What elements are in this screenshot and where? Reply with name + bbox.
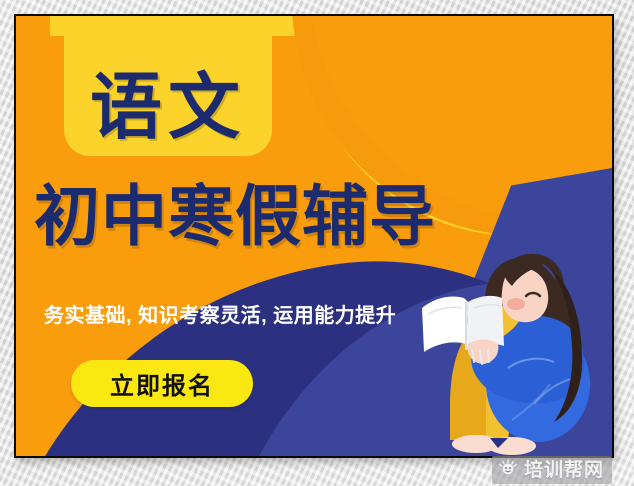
poster-backdrop: 语文 初中寒假辅导 务实基础, 知识考察灵活, 运用能力提升 立即报名 — [0, 0, 634, 486]
girl-reading-illustration — [416, 252, 614, 458]
subject-badge: 语文 — [64, 14, 272, 156]
promo-poster-card: 语文 初中寒假辅导 务实基础, 知识考察灵活, 运用能力提升 立即报名 — [14, 14, 614, 458]
sun-face-icon — [498, 458, 518, 483]
watermark-label: 培训帮网 — [524, 461, 604, 480]
poster-headline: 初中寒假辅导 — [34, 182, 436, 252]
subject-badge-label: 语文 — [90, 72, 246, 144]
enroll-now-button-label: 立即报名 — [110, 366, 214, 401]
poster-subtitle: 务实基础, 知识考察灵活, 运用能力提升 — [44, 299, 396, 328]
enroll-now-button[interactable]: 立即报名 — [71, 360, 253, 407]
site-watermark: 培训帮网 — [492, 456, 612, 484]
